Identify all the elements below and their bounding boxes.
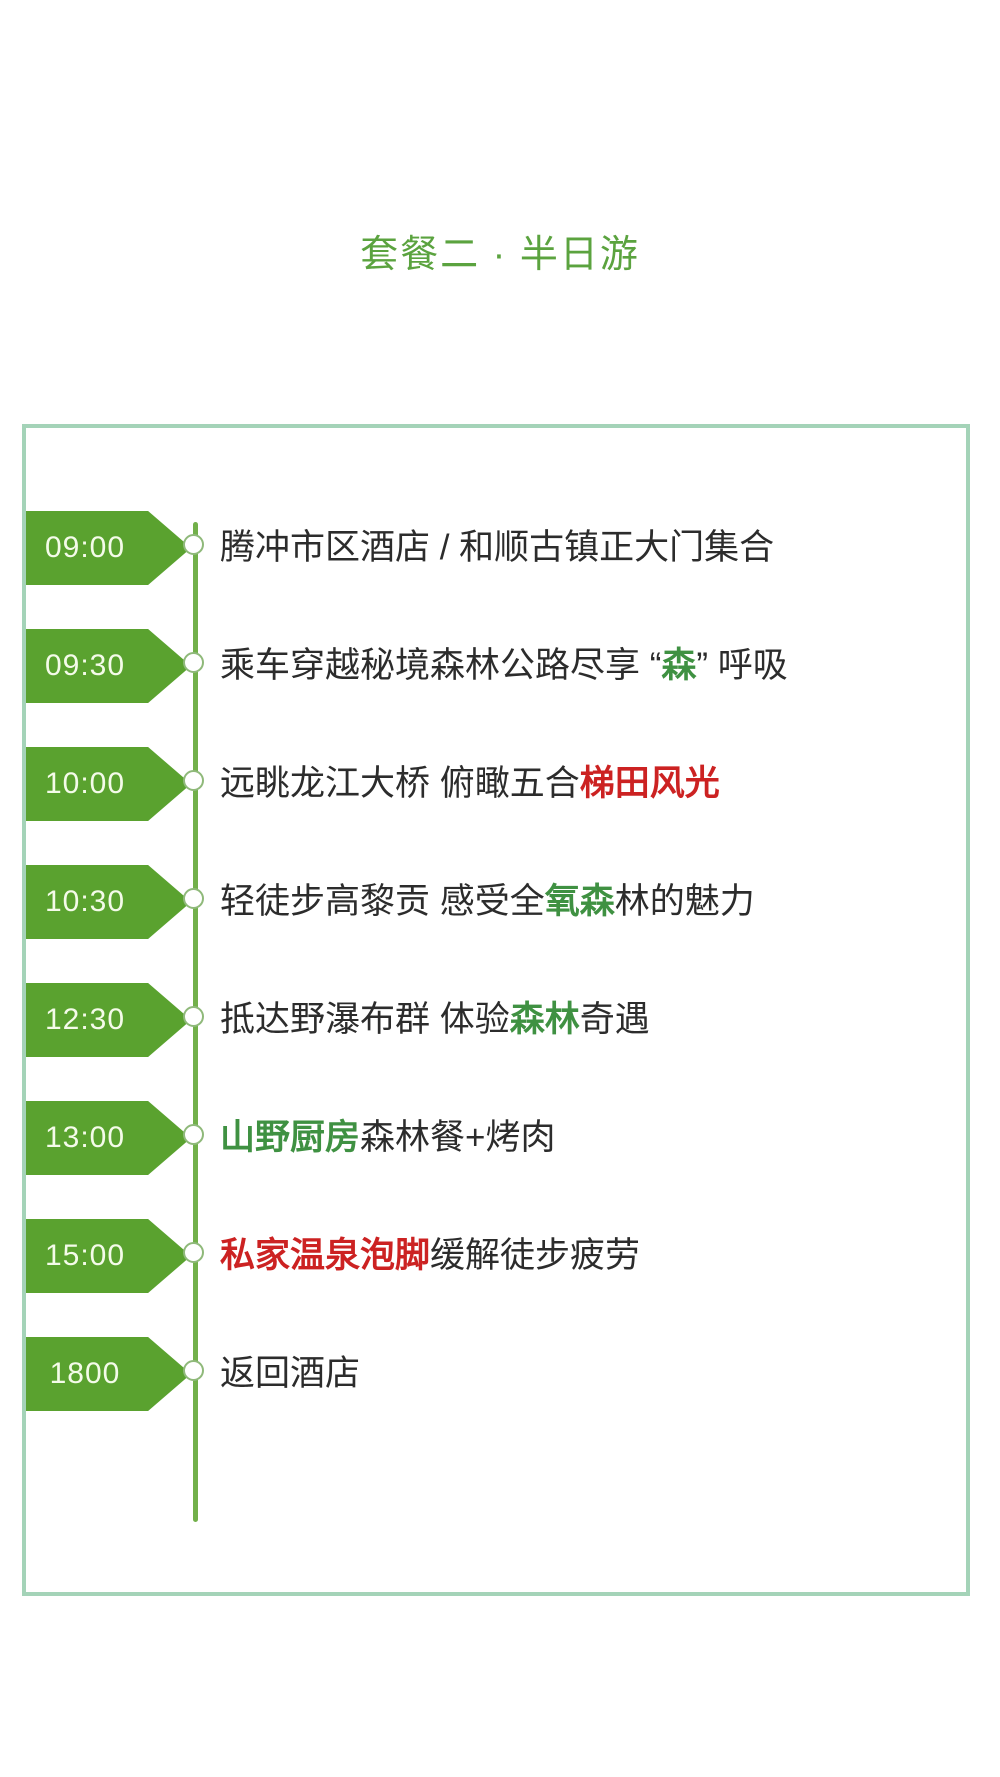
time-badge: 09:30	[26, 629, 191, 703]
timeline-text-segment: 森	[661, 643, 696, 689]
time-badge-label: 13:00	[26, 1122, 144, 1154]
timeline-row-text: 乘车穿越秘境森林公路尽享 “森” 呼吸	[220, 629, 788, 703]
timeline-node-icon	[183, 1242, 204, 1263]
timeline-row-text: 返回酒店	[220, 1337, 360, 1411]
timeline-text-segment: 腾冲市区酒店 / 和顺古镇正大门集合	[220, 525, 774, 571]
timeline-text-segment: 抵达野瀑布群 体验	[220, 997, 510, 1043]
timeline-row-text: 腾冲市区酒店 / 和顺古镇正大门集合	[220, 511, 774, 585]
time-badge: 13:00	[26, 1101, 191, 1175]
timeline-text-segment: 森林	[510, 997, 580, 1043]
timeline-row[interactable]: 12:30抵达野瀑布群 体验森林奇遇	[26, 983, 966, 1057]
timeline-row[interactable]: 13:00山野厨房森林餐+烤肉	[26, 1101, 966, 1175]
timeline-node-icon	[183, 888, 204, 909]
timeline-row[interactable]: 09:30乘车穿越秘境森林公路尽享 “森” 呼吸	[26, 629, 966, 703]
timeline-text-segment: 林的魅力	[615, 879, 755, 925]
timeline-row-text: 轻徒步高黎贡 感受全氧森林的魅力	[220, 865, 755, 939]
time-badge: 10:00	[26, 747, 191, 821]
itinerary-card: 09:00腾冲市区酒店 / 和顺古镇正大门集合09:30乘车穿越秘境森林公路尽享…	[22, 424, 970, 1596]
time-badge: 12:30	[26, 983, 191, 1057]
timeline-row[interactable]: 1800返回酒店	[26, 1337, 966, 1411]
timeline-row[interactable]: 15:00私家温泉泡脚 缓解徒步疲劳	[26, 1219, 966, 1293]
timeline-node-icon	[183, 1360, 204, 1381]
time-badge-label: 15:00	[26, 1240, 144, 1272]
timeline-text-segment: 缓解徒步疲劳	[430, 1233, 640, 1279]
timeline-text-segment: 森林餐+烤肉	[360, 1115, 555, 1161]
timeline-row-text: 山野厨房森林餐+烤肉	[220, 1101, 555, 1175]
page-title: 套餐二 · 半日游	[0, 230, 1000, 280]
timeline-node-icon	[183, 534, 204, 555]
time-badge: 10:30	[26, 865, 191, 939]
timeline-node-icon	[183, 770, 204, 791]
timeline-row[interactable]: 10:00远眺龙江大桥 俯瞰五合梯田风光	[26, 747, 966, 821]
timeline-text-segment: 梯田风光	[580, 761, 720, 807]
timeline-text-segment: 乘车穿越秘境森林公路尽享 “	[220, 643, 661, 689]
time-badge: 09:00	[26, 511, 191, 585]
timeline-row-text: 私家温泉泡脚 缓解徒步疲劳	[220, 1219, 640, 1293]
time-badge-label: 1800	[26, 1358, 144, 1390]
timeline-text-segment: 私家温泉泡脚	[220, 1233, 430, 1279]
timeline-list: 09:00腾冲市区酒店 / 和顺古镇正大门集合09:30乘车穿越秘境森林公路尽享…	[26, 428, 966, 1592]
timeline-row-text: 抵达野瀑布群 体验森林奇遇	[220, 983, 650, 1057]
timeline-node-icon	[183, 652, 204, 673]
timeline-text-segment: 奇遇	[580, 997, 650, 1043]
timeline-text-segment: 返回酒店	[220, 1351, 360, 1397]
time-badge-label: 10:00	[26, 768, 144, 800]
timeline-text-segment: 氧森	[545, 879, 615, 925]
timeline-text-segment: 轻徒步高黎贡 感受全	[220, 879, 545, 925]
time-badge: 15:00	[26, 1219, 191, 1293]
timeline-row-text: 远眺龙江大桥 俯瞰五合梯田风光	[220, 747, 720, 821]
timeline-row[interactable]: 10:30轻徒步高黎贡 感受全氧森林的魅力	[26, 865, 966, 939]
time-badge: 1800	[26, 1337, 191, 1411]
time-badge-label: 09:30	[26, 650, 144, 682]
timeline-text-segment: 山野厨房	[220, 1115, 360, 1161]
time-badge-label: 12:30	[26, 1004, 144, 1036]
time-badge-label: 09:00	[26, 532, 144, 564]
timeline-node-icon	[183, 1006, 204, 1027]
timeline-text-segment: 远眺龙江大桥 俯瞰五合	[220, 761, 580, 807]
timeline-row[interactable]: 09:00腾冲市区酒店 / 和顺古镇正大门集合	[26, 511, 966, 585]
timeline-text-segment: ” 呼吸	[696, 643, 787, 689]
time-badge-label: 10:30	[26, 886, 144, 918]
timeline-node-icon	[183, 1124, 204, 1145]
